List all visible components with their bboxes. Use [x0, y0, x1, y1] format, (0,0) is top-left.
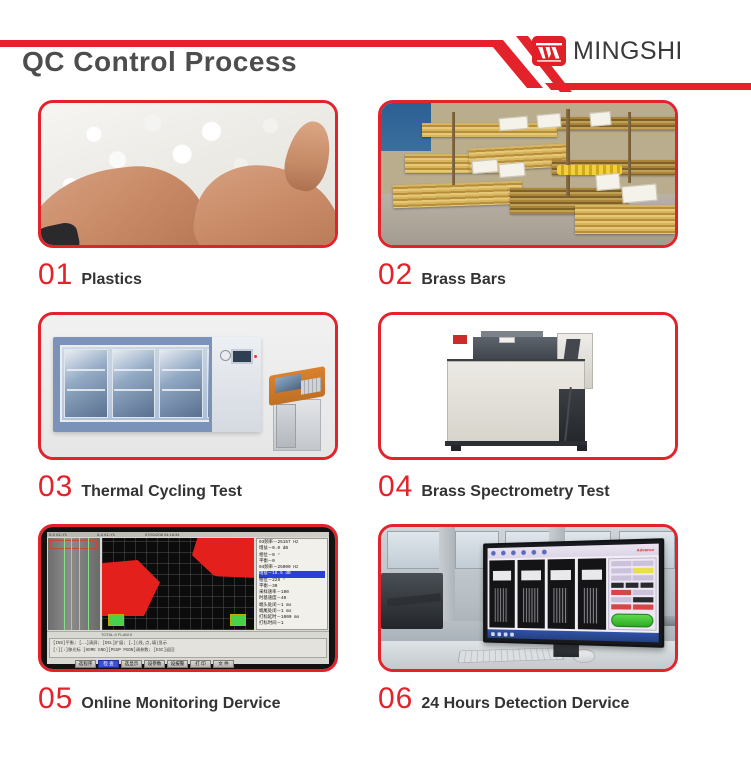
step-label: Brass Bars [421, 272, 506, 288]
page-title: QC Control Process [22, 46, 297, 78]
process-step-04: 04 Brass Spectrometry Test [378, 312, 713, 524]
plastics-photo [41, 103, 335, 245]
help-line: [↑][↓]移光标 [HOME END][PGUP PGDN]调参数; [ESC… [53, 648, 323, 655]
monitor-button[interactable]: 选程序 [75, 660, 96, 668]
brand-logo: MINGSHI [532, 36, 683, 66]
step-caption-04: 04 Brass Spectrometry Test [378, 472, 713, 502]
impedance-plot [102, 538, 254, 630]
monitor-button[interactable]: 设报警 [167, 660, 188, 668]
monitor-button[interactable]: 文 件 [213, 660, 234, 668]
strip-chart [48, 538, 100, 630]
brass-bars-photo [381, 103, 675, 245]
process-grid: 01 Plastics [0, 100, 751, 736]
page-header: QC Control Process MINGSHI [0, 0, 751, 100]
detection-monitor: Advance [483, 538, 664, 648]
step-caption-05: 05 Online Monitoring Dervice [38, 684, 373, 714]
step-caption-01: 01 Plastics [38, 260, 373, 290]
parameter-panel: 03频率－25157 Hz 增益－0.0 dB 相位－0 ° 平衡－0 04频率… [256, 538, 328, 630]
monitor-button[interactable]: 设参数 [144, 660, 165, 668]
step-label: 24 Hours Detection Dervice [421, 696, 629, 712]
monitor-button-selected[interactable]: 检 查 [98, 660, 119, 668]
monitoring-screen-photo: 0-3 X1-Y1 0-4 X1-Y1 07/01/208 04:18:34 [41, 527, 335, 669]
step-number: 05 [38, 684, 73, 714]
help-text: [INS]平衡; [←→]清屏; [DEL]扩展; [←](线,点,填)显示 [… [49, 638, 327, 658]
step-caption-06: 06 24 Hours Detection Dervice [378, 684, 713, 714]
step-number: 04 [378, 472, 413, 502]
step-image-card-04[interactable] [378, 312, 678, 460]
step-image-card-05[interactable]: 0-3 X1-Y1 0-4 X1-Y1 07/01/208 04:18:34 [38, 524, 338, 672]
step-image-card-02[interactable] [378, 100, 678, 248]
step-label: Online Monitoring Dervice [81, 696, 280, 712]
step-label: Plastics [81, 272, 141, 288]
step-number: 01 [38, 260, 73, 290]
detection-device-photo: Advance [381, 527, 675, 669]
total-flaw-status: TOTAL:0 FLAW:0 [47, 631, 329, 637]
param-row: 打标时间－1 [259, 621, 325, 627]
step-number: 06 [378, 684, 413, 714]
step-caption-02: 02 Brass Bars [378, 260, 713, 290]
step-label: Thermal Cycling Test [81, 484, 242, 500]
step-image-card-06[interactable]: Advance [378, 524, 678, 672]
monitor-button[interactable]: 选显示 [121, 660, 142, 668]
process-step-02: 02 Brass Bars [378, 100, 713, 312]
step-image-card-01[interactable] [38, 100, 338, 248]
process-step-06: Advance [378, 524, 713, 736]
step-number: 02 [378, 260, 413, 290]
step-number: 03 [38, 472, 73, 502]
step-caption-03: 03 Thermal Cycling Test [38, 472, 373, 502]
monitor-button[interactable]: 打 印 [190, 660, 211, 668]
spectrometer-photo [381, 315, 675, 457]
mingshi-logo-icon [532, 36, 566, 66]
thermal-chamber-photo [41, 315, 335, 457]
brand-name: MINGSHI [573, 37, 683, 66]
step-label: Brass Spectrometry Test [421, 484, 609, 500]
step-image-card-03[interactable] [38, 312, 338, 460]
help-line: [INS]平衡; [←→]清屏; [DEL]扩展; [←](线,点,填)显示 [53, 641, 323, 648]
process-step-03: 03 Thermal Cycling Test [38, 312, 373, 524]
process-step-01: 01 Plastics [38, 100, 373, 312]
process-step-05: 0-3 X1-Y1 0-4 X1-Y1 07/01/208 04:18:34 [38, 524, 373, 736]
monitor-button-bar: 选程序 检 查 选显示 设参数 设报警 打 印 文 件 [47, 659, 329, 669]
